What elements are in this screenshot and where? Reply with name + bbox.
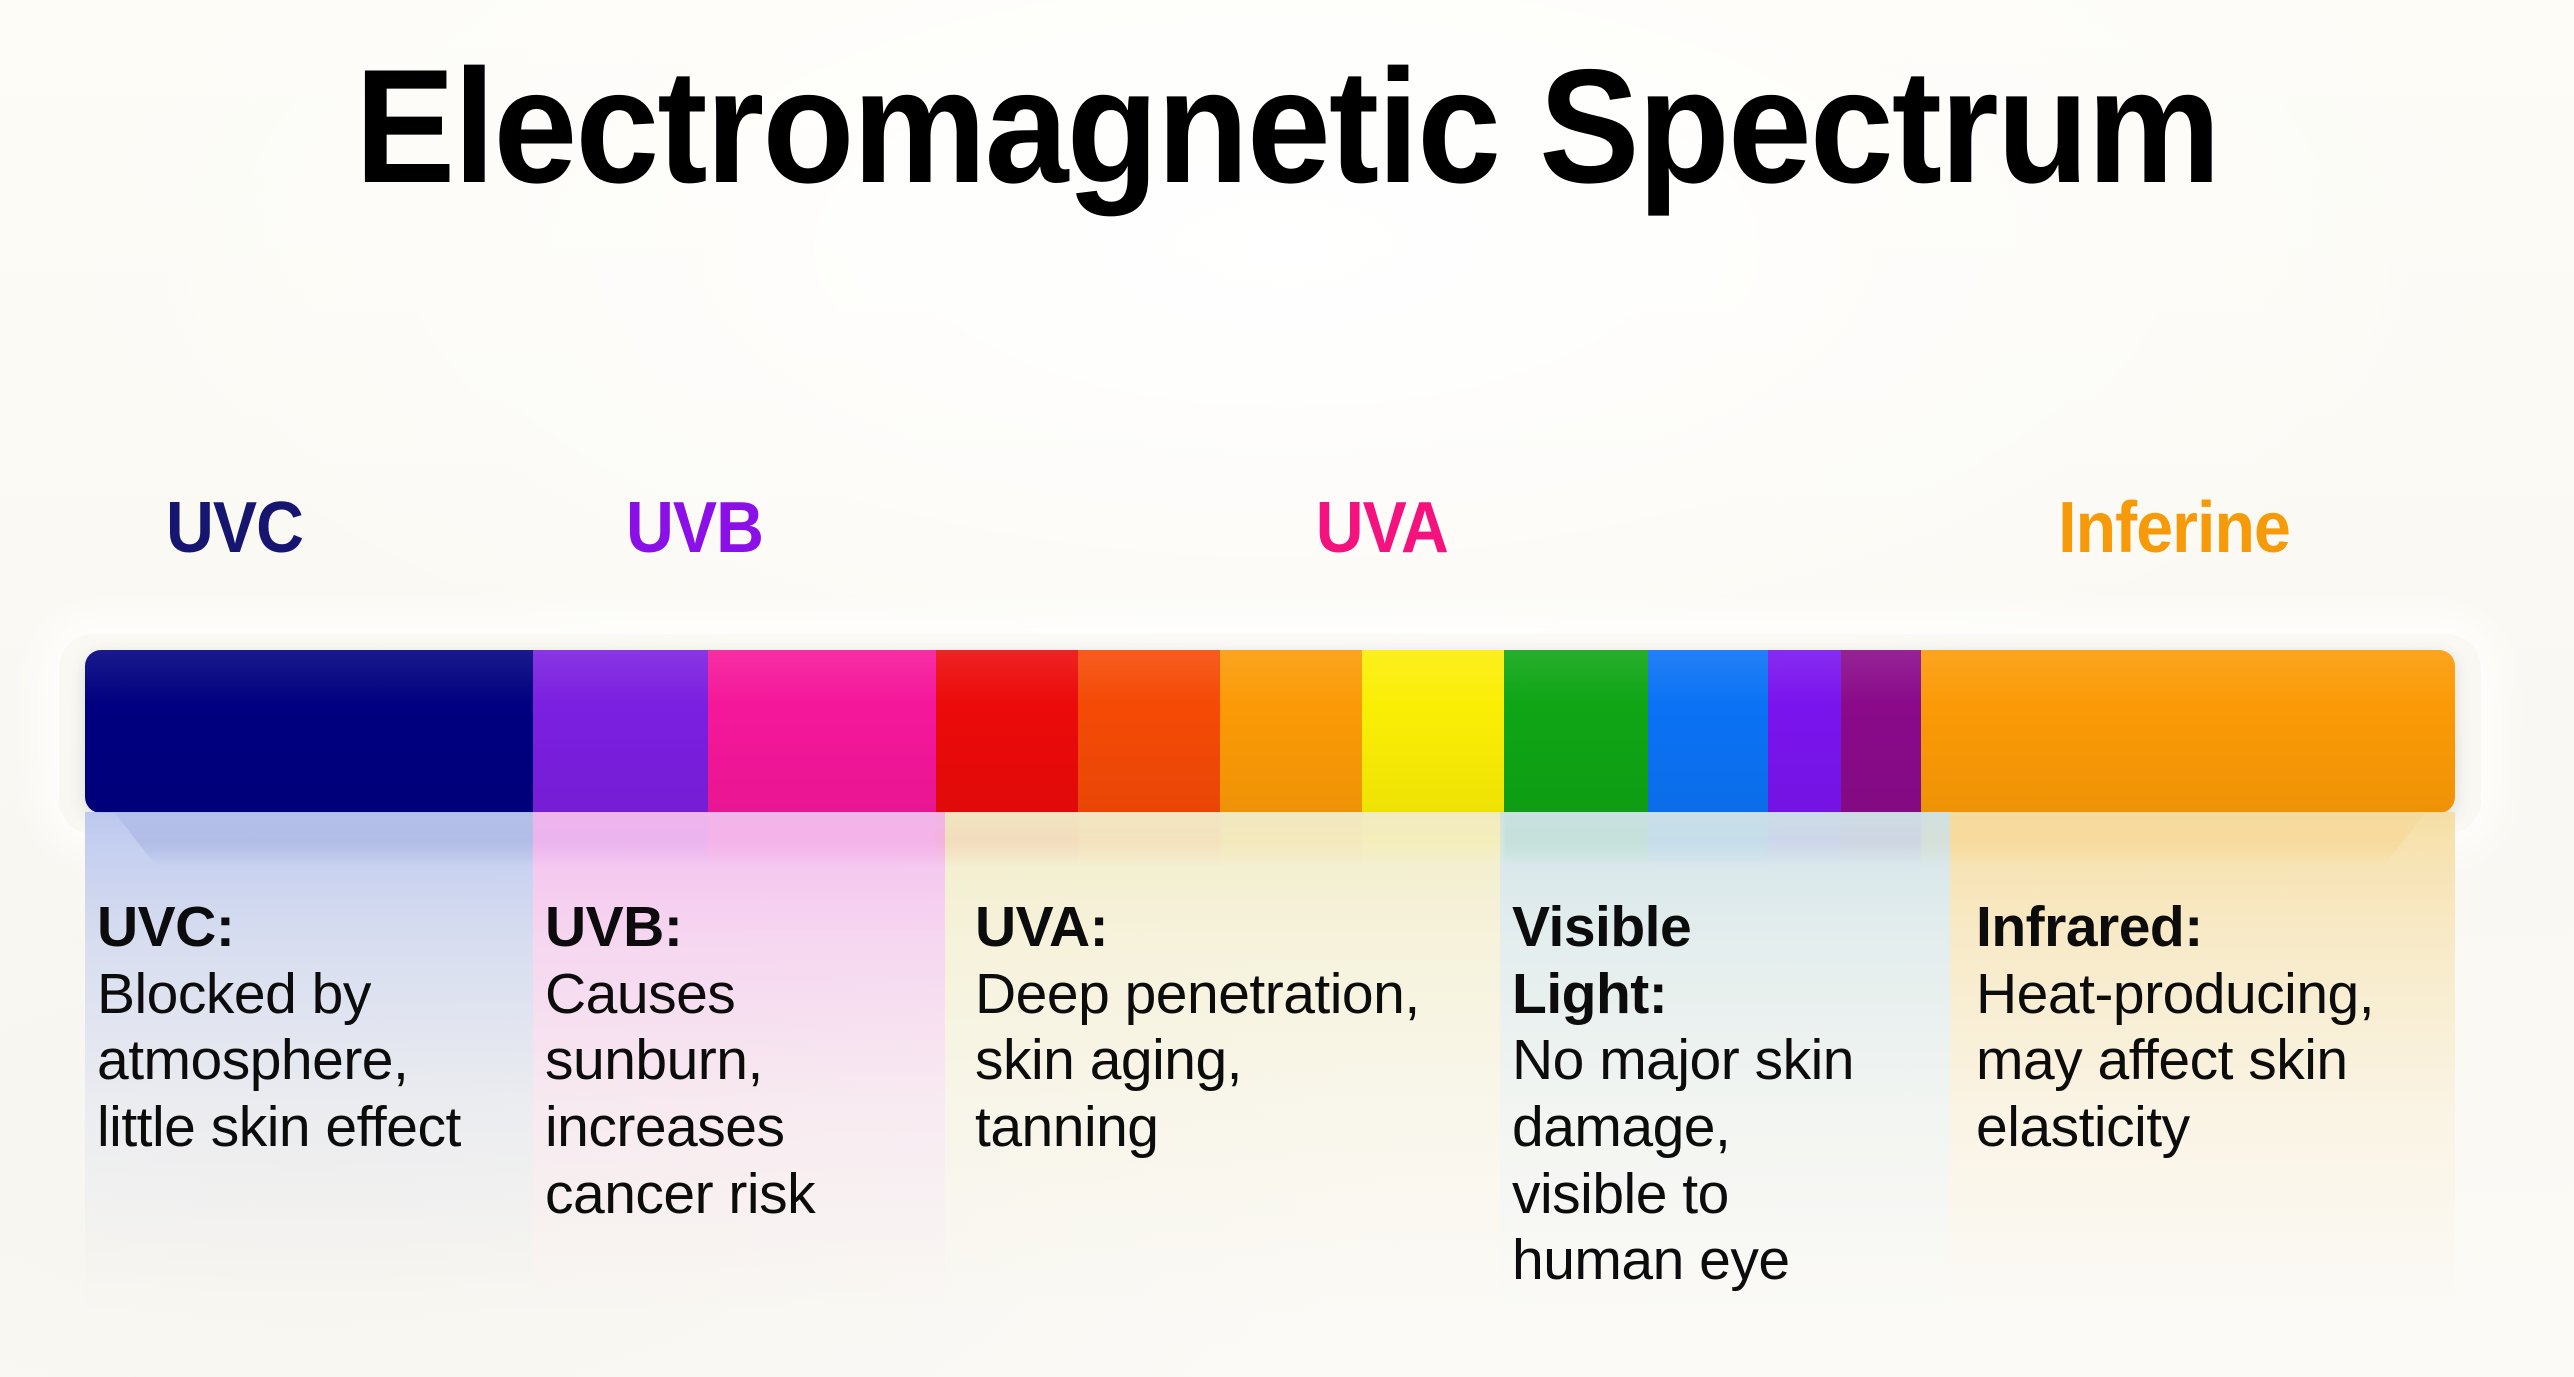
panel-uvb: UVB:Causes sunburn,increasescancer risk [533, 812, 945, 1377]
panel-text-uvc: UVC:Blocked byatmosphere,little skin eff… [85, 894, 533, 1161]
spectrum-segment-uvb-violet [533, 650, 708, 813]
panel-text-uvb: UVB:Causes sunburn,increasescancer risk [533, 894, 945, 1227]
panel-uvc: UVC:Blocked byatmosphere,little skin eff… [85, 812, 533, 1377]
spectrum-segment-visible-yellow [1362, 650, 1504, 813]
panel-body-uva-line1: Deep penetration, [975, 961, 1500, 1028]
panel-body-uvb-line3: cancer risk [545, 1161, 945, 1228]
panel-infrared: Infrared:Heat-producing,may affect skine… [1950, 812, 2455, 1377]
panel-body-uvb-line1: Causes sunburn, [545, 961, 945, 1094]
spectrum-segment-visible-red [936, 650, 1078, 813]
panel-text-visible-light: VisibleLight:No major skindamage,visible… [1500, 894, 1950, 1294]
band-label-uvb: UVB [626, 492, 763, 564]
band-label-inferine: Inferine [2058, 492, 2290, 564]
panel-title-uva: UVA: [975, 894, 1500, 961]
band-label-uva: UVA [1316, 492, 1448, 564]
panel-body-uvc-line2: atmosphere, [97, 1027, 533, 1094]
panel-body-visible-light-line3: visible to [1512, 1161, 1950, 1228]
description-panels: UVC:Blocked byatmosphere,little skin eff… [0, 812, 2574, 1377]
panel-title-visible-light-line2: Light: [1512, 961, 1950, 1028]
spectrum-segment-visible-violet [1768, 650, 1841, 813]
panel-body-uvb-line2: increases [545, 1094, 945, 1161]
spectrum-segment-visible-green [1504, 650, 1648, 813]
panel-body-infrared-line1: Heat-producing, [1976, 961, 2455, 1028]
panel-body-visible-light-line4: human eye [1512, 1227, 1950, 1294]
page-title: Electromagnetic Spectrum [90, 46, 2484, 208]
panel-body-visible-light-line2: damage, [1512, 1094, 1950, 1161]
spectrum-segment-uvc-navy [85, 650, 533, 813]
panel-body-uvc-line3: little skin effect [97, 1094, 533, 1161]
spectrum-segment-infrared-orange [1921, 650, 2455, 813]
panel-title-visible-light-line1: Visible [1512, 894, 1950, 961]
panel-title-uvb: UVB: [545, 894, 945, 961]
panel-visible-light: VisibleLight:No major skindamage,visible… [1500, 812, 1950, 1377]
spectrum-segment-uva-magenta [708, 650, 936, 813]
spectrum-segment-visible-blue [1648, 650, 1768, 813]
spectrum-segment-visible-purple [1841, 650, 1921, 813]
panel-text-uva: UVA:Deep penetration,skin aging,tanning [945, 894, 1500, 1161]
panel-title-uvc: UVC: [97, 894, 533, 961]
panel-body-infrared-line3: elasticity [1976, 1094, 2455, 1161]
spectrum-segment-visible-orangered [1078, 650, 1220, 813]
band-label-uvc: UVC [166, 492, 303, 564]
panel-title-infrared: Infrared: [1976, 894, 2455, 961]
panel-text-infrared: Infrared:Heat-producing,may affect skine… [1950, 894, 2455, 1161]
panel-uva: UVA:Deep penetration,skin aging,tanning [945, 812, 1500, 1377]
panel-body-uva-line3: tanning [975, 1094, 1500, 1161]
panel-body-uva-line2: skin aging, [975, 1027, 1500, 1094]
spectrum-bar-container [85, 650, 2455, 813]
panel-body-visible-light-line1: No major skin [1512, 1027, 1950, 1094]
panel-body-uvc-line1: Blocked by [97, 961, 533, 1028]
spectrum-segment-visible-orange [1220, 650, 1362, 813]
spectrum-bar [85, 650, 2455, 813]
band-label-row: UVC UVB UVA Inferine [0, 492, 2574, 582]
panel-body-infrared-line2: may affect skin [1976, 1027, 2455, 1094]
